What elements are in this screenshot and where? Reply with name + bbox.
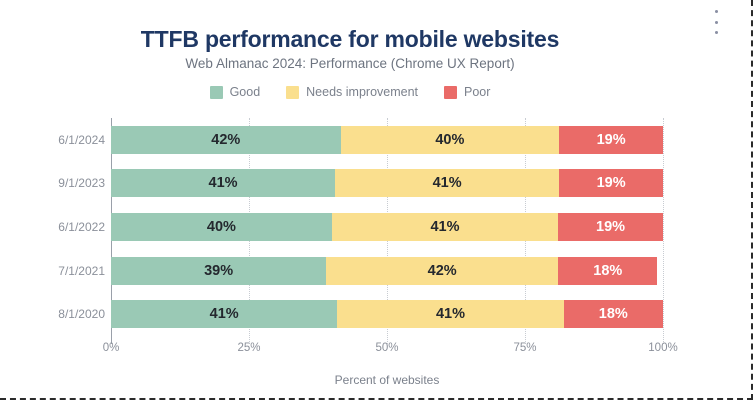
kebab-dot-1 <box>715 10 718 13</box>
bar-segment-label: 19% <box>597 132 626 148</box>
bar-segment-needs[interactable]: 41% <box>332 213 558 241</box>
legend-label: Good <box>230 85 261 99</box>
bar-segment-label: 19% <box>597 175 626 191</box>
kebab-dot-3 <box>715 31 718 34</box>
bar-segment-label: 18% <box>599 306 628 322</box>
kebab-dot-2 <box>715 21 718 24</box>
legend-swatch-icon <box>210 86 223 99</box>
y-axis-label: 6/1/2024 <box>13 126 105 154</box>
x-axis-tick-label: 50% <box>375 342 398 354</box>
bar-row[interactable]: 41%41%18% <box>111 300 663 328</box>
y-axis-label: 8/1/2020 <box>13 300 105 328</box>
legend-item-poor[interactable]: Poor <box>444 85 490 99</box>
bar-segment-needs[interactable]: 42% <box>326 257 558 285</box>
bar-segment-needs[interactable]: 41% <box>337 300 563 328</box>
bar-segment-good[interactable]: 41% <box>111 300 337 328</box>
chart-legend: GoodNeeds improvementPoor <box>0 85 700 99</box>
bar-segment-label: 18% <box>593 263 622 279</box>
bar-segment-good[interactable]: 42% <box>111 126 341 154</box>
gridline-100 <box>663 118 664 344</box>
bar-segment-good[interactable]: 39% <box>111 257 326 285</box>
y-axis-category-labels: 6/1/20249/1/20236/1/20227/1/20218/1/2020 <box>9 118 105 336</box>
legend-item-good[interactable]: Good <box>210 85 261 99</box>
bar-segment-needs[interactable]: 40% <box>341 126 560 154</box>
legend-swatch-icon <box>444 86 457 99</box>
bar-segment-poor[interactable]: 19% <box>559 169 663 197</box>
x-axis-tick-label: 25% <box>237 342 260 354</box>
legend-label: Poor <box>464 85 490 99</box>
legend-label: Needs improvement <box>306 85 418 99</box>
bar-segment-label: 40% <box>207 219 236 235</box>
bar-segment-label: 41% <box>209 175 238 191</box>
legend-item-needs-improvement[interactable]: Needs improvement <box>286 85 418 99</box>
bar-segment-label: 42% <box>428 263 457 279</box>
bar-row[interactable]: 39%42%18% <box>111 257 663 285</box>
bar-segment-good[interactable]: 40% <box>111 213 332 241</box>
x-axis-tick-label: 100% <box>648 342 677 354</box>
bar-segment-label: 41% <box>210 306 239 322</box>
chart-subtitle: Web Almanac 2024: Performance (Chrome UX… <box>0 56 700 71</box>
x-axis-tick-label: 0% <box>103 342 120 354</box>
bar-segment-label: 41% <box>430 219 459 235</box>
bar-segment-needs[interactable]: 41% <box>335 169 559 197</box>
plot-area: 42%40%19%41%41%19%40%41%19%39%42%18%41%4… <box>111 118 663 336</box>
x-axis-title: Percent of websites <box>111 373 663 387</box>
bar-segment-label: 39% <box>204 263 233 279</box>
bar-segment-label: 40% <box>435 132 464 148</box>
bar-segment-label: 41% <box>433 175 462 191</box>
x-axis-tick-labels: 0%25%50%75%100% <box>111 342 663 360</box>
x-axis-tick-label: 75% <box>513 342 536 354</box>
chart-title: TTFB performance for mobile websites <box>0 26 700 53</box>
bar-segment-poor[interactable]: 18% <box>564 300 663 328</box>
kebab-menu-icon[interactable] <box>709 8 723 36</box>
bar-segment-poor[interactable]: 18% <box>558 257 657 285</box>
bar-segment-poor[interactable]: 19% <box>558 213 663 241</box>
bar-row[interactable]: 42%40%19% <box>111 126 663 154</box>
y-axis-label: 9/1/2023 <box>13 169 105 197</box>
y-axis-label: 7/1/2021 <box>13 257 105 285</box>
chart-frame: TTFB performance for mobile websites Web… <box>0 0 753 400</box>
legend-swatch-icon <box>286 86 299 99</box>
bar-row[interactable]: 41%41%19% <box>111 169 663 197</box>
bar-segment-good[interactable]: 41% <box>111 169 335 197</box>
bar-segment-label: 42% <box>211 132 240 148</box>
bar-segment-poor[interactable]: 19% <box>559 126 663 154</box>
bar-segment-label: 19% <box>596 219 625 235</box>
bar-row[interactable]: 40%41%19% <box>111 213 663 241</box>
bar-segment-label: 41% <box>436 306 465 322</box>
y-axis-label: 6/1/2022 <box>13 213 105 241</box>
